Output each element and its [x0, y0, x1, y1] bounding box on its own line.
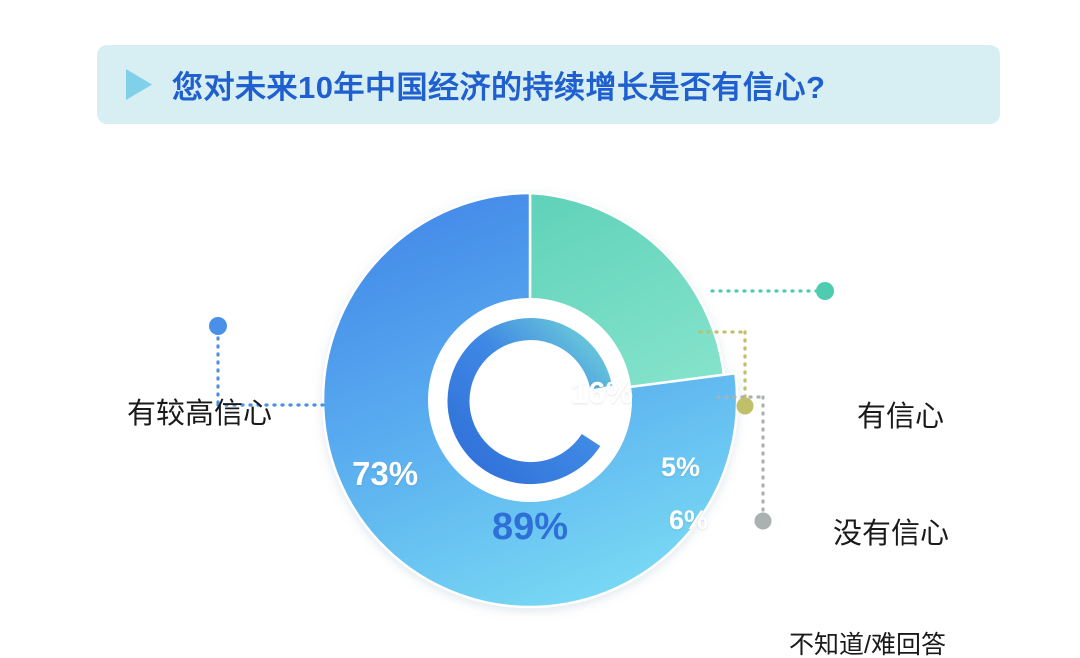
- callout-label-不知道难回答: 不知道/难回答: [789, 625, 946, 658]
- slice-value-不知道难回答: 6%: [669, 505, 708, 536]
- slice-value-没有信心: 5%: [661, 452, 700, 483]
- callout-dot-有较高信心[interactable]: [209, 317, 227, 335]
- callout-label-有信心: 有信心: [857, 393, 944, 435]
- donut-chart: 73% 16% 5% 6% 89% 有较高信心 有信心 没有信心 不知道/难回答: [0, 125, 1080, 658]
- callout-dot-不知道难回答[interactable]: [755, 513, 772, 530]
- slice-value-有信心: 16%: [571, 375, 633, 411]
- callout-label-有较高信心: 有较高信心: [127, 390, 272, 432]
- page-title: 您对未来10年中国经济的持续增长是否有信心?: [172, 62, 825, 107]
- center-kpi-value: 89%: [462, 506, 598, 549]
- header-banner: 您对未来10年中国经济的持续增长是否有信心?: [97, 45, 1000, 124]
- infographic-root: 您对未来10年中国经济的持续增长是否有信心?: [0, 0, 1080, 658]
- callout-dot-有信心[interactable]: [816, 282, 834, 300]
- slice-value-有较高信心: 73%: [352, 455, 418, 493]
- callout-dot-没有信心[interactable]: [737, 398, 754, 415]
- callout-label-没有信心: 没有信心: [833, 510, 949, 552]
- play-triangle-icon: [124, 68, 154, 101]
